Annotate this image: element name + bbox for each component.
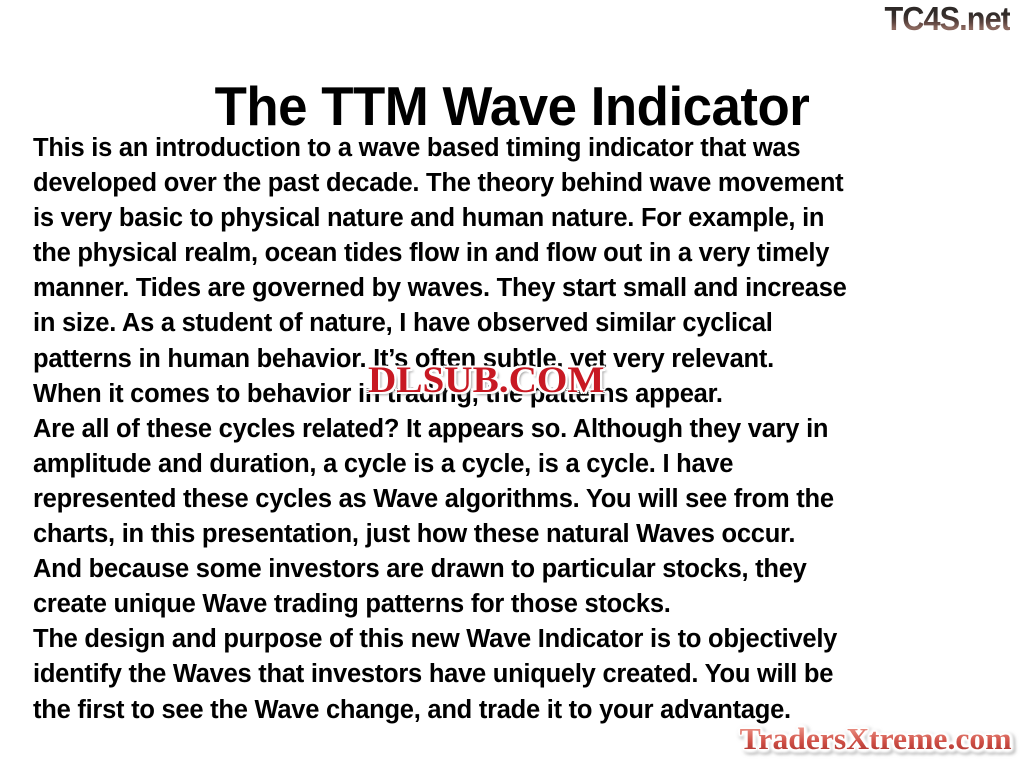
body-line: manner. Tides are governed by waves. The… — [33, 271, 995, 306]
tc4s-brand-logo: TC4S.net — [884, 2, 1010, 35]
body-line: create unique Wave trading patterns for … — [33, 587, 995, 622]
body-line: charts, in this presentation, just how t… — [33, 517, 995, 552]
dlsub-watermark: DLSUB.COM — [368, 361, 604, 401]
body-line: in size. As a student of nature, I have … — [33, 306, 995, 341]
body-line: The design and purpose of this new Wave … — [33, 622, 995, 657]
body-line: is very basic to physical nature and hum… — [33, 201, 995, 236]
slide-canvas: { "brand": { "logo_text": "TC4S.net", "l… — [0, 0, 1024, 768]
body-line: identify the Waves that investors have u… — [33, 657, 995, 692]
body-line: represented these cycles as Wave algorit… — [33, 482, 995, 517]
body-copy: This is an introduction to a wave based … — [33, 131, 995, 728]
body-line: And because some investors are drawn to … — [33, 552, 995, 587]
body-line: Are all of these cycles related? It appe… — [33, 412, 995, 447]
tradersxtreme-watermark: TradersXtreme.com — [740, 721, 1012, 757]
body-line: This is an introduction to a wave based … — [33, 131, 995, 166]
body-line: the physical realm, ocean tides flow in … — [33, 236, 995, 271]
body-line: amplitude and duration, a cycle is a cyc… — [33, 447, 995, 482]
page-title: The TTM Wave Indicator — [20, 75, 1003, 137]
body-line: developed over the past decade. The theo… — [33, 166, 995, 201]
